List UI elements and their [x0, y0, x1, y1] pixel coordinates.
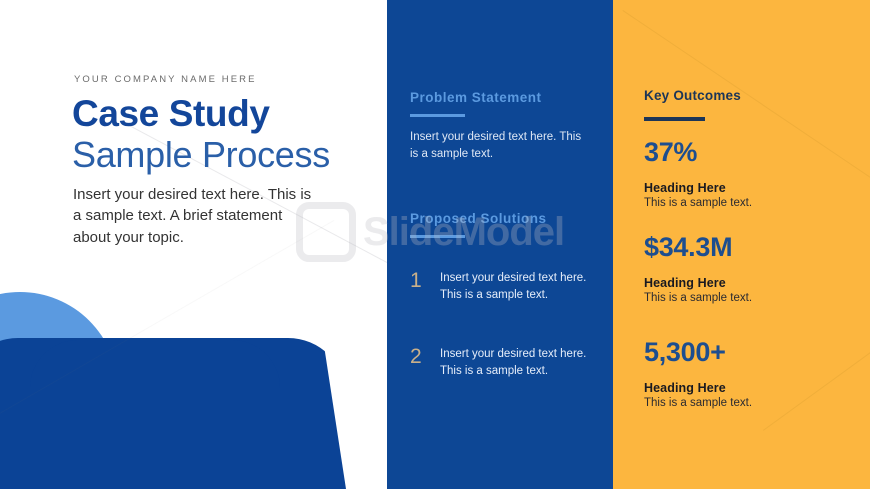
list-item: 1 Insert your desired text here. This is… — [410, 270, 596, 304]
proposed-solutions-underline — [410, 235, 465, 238]
stat-heading: Heading Here — [644, 276, 854, 290]
list-item-text: Insert your desired text here. This is a… — [440, 346, 596, 380]
list-item-number: 1 — [410, 270, 422, 291]
page-title: Case Study — [72, 95, 270, 134]
stat-value: 5,300+ — [644, 338, 854, 368]
stat-block: 5,300+ Heading Here This is a sample tex… — [644, 338, 854, 409]
key-outcomes-underline — [644, 117, 705, 121]
stat-description: This is a sample text. — [644, 292, 854, 304]
stat-heading: Heading Here — [644, 381, 854, 395]
page-subtitle: Sample Process — [72, 136, 330, 174]
list-item-text: Insert your desired text here. This is a… — [440, 270, 596, 304]
stat-description: This is a sample text. — [644, 197, 854, 209]
title-panel: YOUR COMPANY NAME HERE Case Study Sample… — [0, 0, 387, 489]
slide-canvas: SlideModel YOUR COMPANY NAME HERE Case S… — [0, 0, 870, 489]
stat-block: $34.3M Heading Here This is a sample tex… — [644, 233, 854, 304]
company-name-placeholder: YOUR COMPANY NAME HERE — [74, 74, 257, 85]
list-item-number: 2 — [410, 346, 422, 367]
proposed-solutions-heading: Proposed Solutions — [410, 211, 547, 226]
key-outcomes-panel: Key Outcomes 37% Heading Here This is a … — [613, 0, 870, 489]
stat-value: $34.3M — [644, 233, 854, 263]
stat-value: 37% — [644, 138, 854, 168]
stat-block: 37% Heading Here This is a sample text. — [644, 138, 854, 209]
problem-solutions-panel: Problem Statement Insert your desired te… — [387, 0, 613, 489]
stat-heading: Heading Here — [644, 181, 854, 195]
problem-statement-heading: Problem Statement — [410, 90, 542, 105]
stat-description: This is a sample text. — [644, 397, 854, 409]
key-outcomes-heading: Key Outcomes — [644, 88, 741, 103]
problem-statement-underline — [410, 114, 465, 117]
problem-statement-body: Insert your desired text here. This is a… — [410, 129, 588, 163]
intro-paragraph: Insert your desired text here. This is a… — [73, 184, 323, 248]
list-item: 2 Insert your desired text here. This is… — [410, 346, 596, 380]
